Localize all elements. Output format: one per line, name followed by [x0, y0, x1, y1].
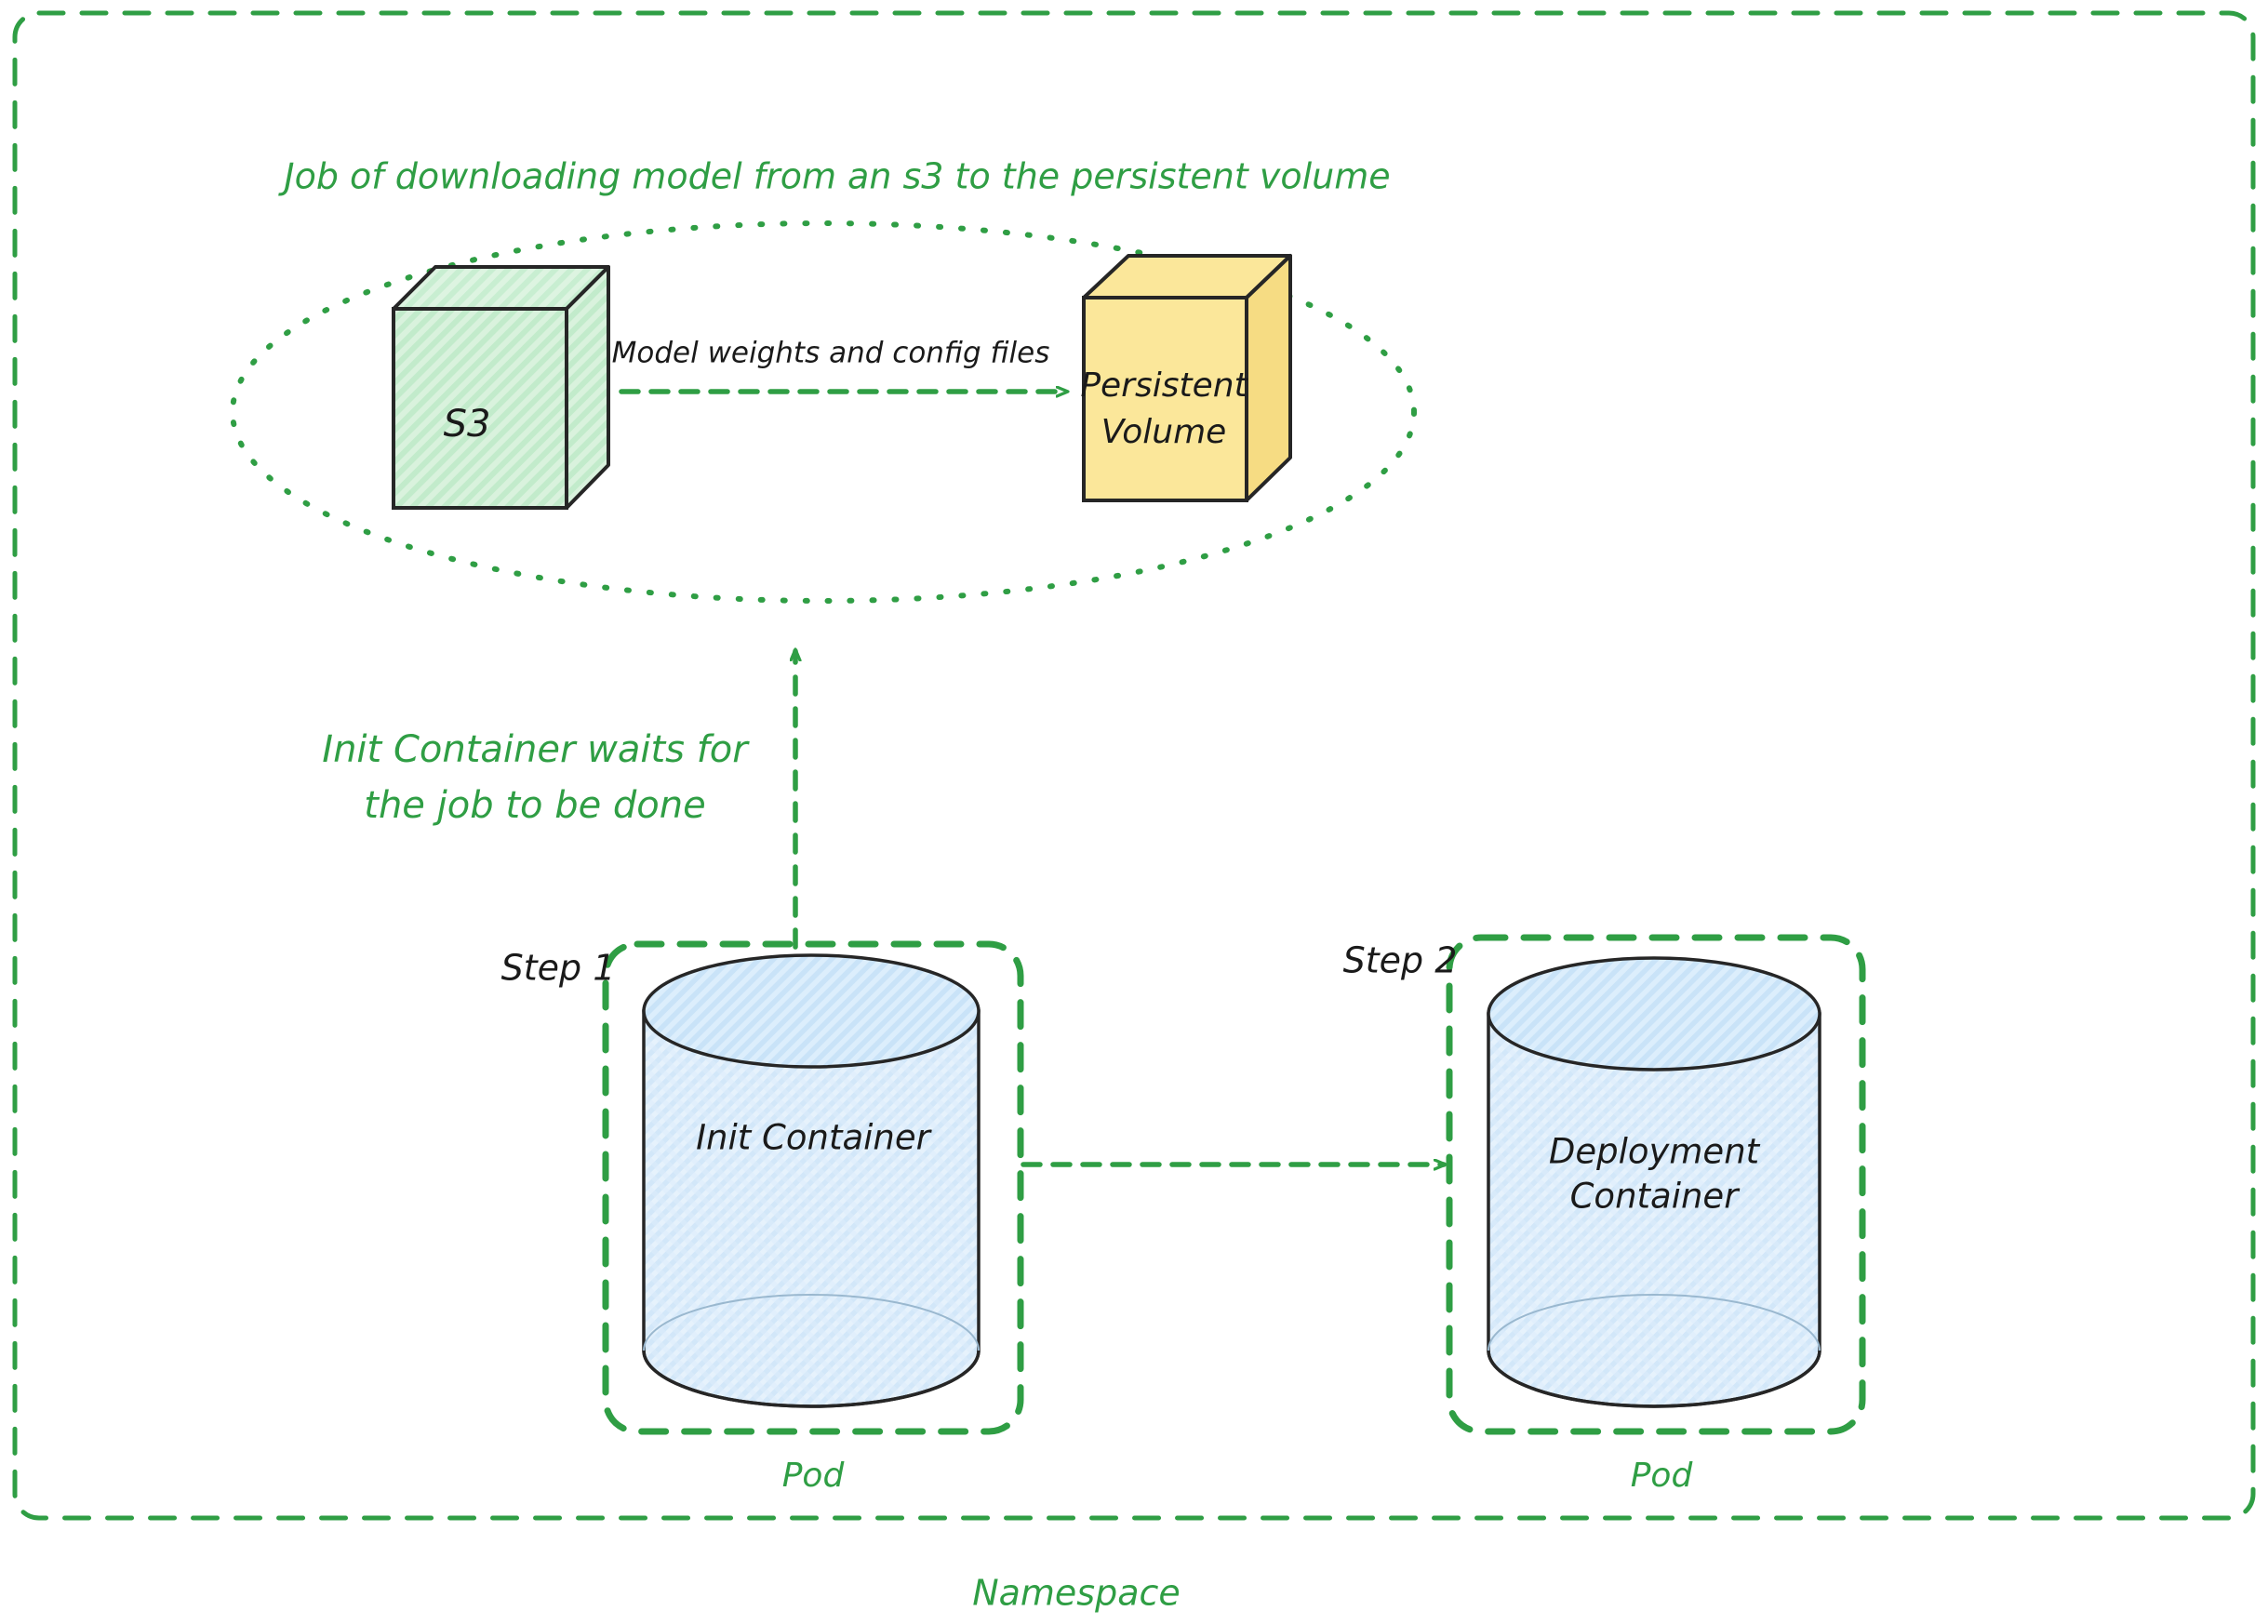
s3-cube-label: S3: [444, 403, 491, 446]
pod-init-container[interactable]: Init Container Step 1 Pod: [501, 944, 1021, 1495]
wait-note-line2: the job to be done: [364, 784, 705, 827]
pod-deployment-container[interactable]: Deployment Container Step 2 Pod: [1343, 938, 1862, 1495]
namespace-label: Namespace: [972, 1573, 1181, 1614]
persistent-volume-label-line2: Volume: [1101, 413, 1227, 451]
job-title: Job of downloading model from an s3 to t…: [277, 156, 1390, 197]
pod-1-label: Pod: [782, 1457, 846, 1495]
init-container-wait-note: Init Container waits for the job to be d…: [322, 728, 750, 827]
init-container-label: Init Container: [696, 1118, 933, 1158]
s3-cube: S3: [394, 267, 608, 508]
deployment-container-label-line1: Deployment: [1549, 1132, 1761, 1172]
pod-2-label: Pod: [1631, 1457, 1694, 1495]
diagram-canvas: S3 Persistent Volume Model weights and c…: [0, 0, 2268, 1624]
edge-s3-to-pv-label: Model weights and config files: [612, 337, 1050, 370]
persistent-volume-label-line1: Persistent: [1080, 366, 1248, 405]
wait-note-line1: Init Container waits for: [322, 728, 750, 771]
cylinder-init-container: [644, 955, 979, 1406]
step-2-label: Step 2: [1343, 940, 1458, 981]
step-1-label: Step 1: [501, 948, 616, 989]
deployment-container-label-line2: Container: [1570, 1177, 1741, 1217]
diagram-svg: S3 Persistent Volume Model weights and c…: [0, 0, 2268, 1624]
persistent-volume-cube: Persistent Volume: [1080, 256, 1290, 500]
edge-s3-to-pv: Model weights and config files: [612, 337, 1066, 393]
